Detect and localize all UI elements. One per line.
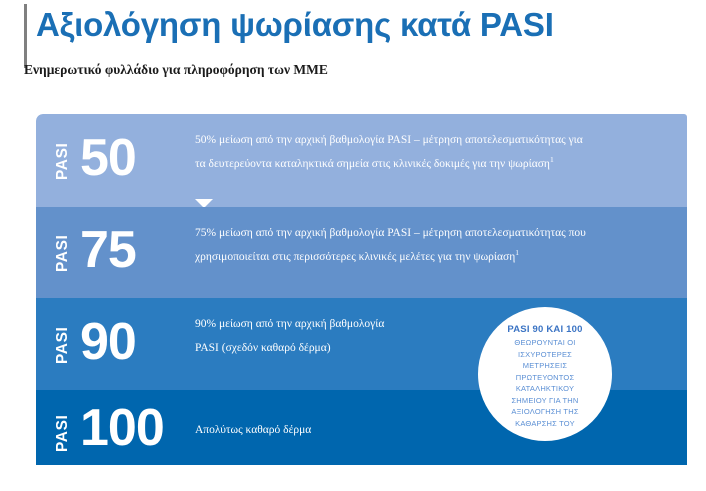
page-subtitle: Ενημερωτικό φυλλάδιο για πληροφόρηση των… xyxy=(24,62,328,78)
pasi-band-score: 90 xyxy=(80,316,136,368)
footnote-marker: 1 xyxy=(515,248,519,257)
pasi-band-description: Απολύτως καθαρό δέρμα xyxy=(195,416,495,440)
callout-circle: PASI 90 ΚΑΙ 100 ΘΕΩΡΟΥΝΤΑΙ ΟΙ ΙΣΧΥΡΟΤΕΡΕ… xyxy=(478,307,612,441)
pasi-band-score: 100 xyxy=(80,402,164,454)
pasi-band-description: 50% μείωση από την αρχική βαθμολογία PAS… xyxy=(195,131,595,174)
pasi-band-label: PASI xyxy=(54,327,72,364)
pasi-band-description-text: 90% μείωση από την αρχική βαθμολογία PAS… xyxy=(195,318,384,354)
pasi-band-75: PASI 75 75% μείωση από την αρχική βαθμολ… xyxy=(36,207,687,298)
pasi-band-description-text: Απολύτως καθαρό δέρμα xyxy=(195,424,311,436)
page-header: Αξιολόγηση ψωρίασης κατά PASI Ενημερωτικ… xyxy=(0,0,706,108)
pasi-band-label: PASI xyxy=(54,415,72,452)
pasi-band-description-text: 75% μείωση από την αρχική βαθμολογία PAS… xyxy=(195,227,586,263)
pasi-band-description: 75% μείωση από την αρχική βαθμολογία PAS… xyxy=(195,224,610,267)
title-accent-bar xyxy=(24,4,27,68)
pasi-band-label: PASI xyxy=(54,143,72,180)
pasi-band-score: 50 xyxy=(80,132,136,184)
pasi-band-50: PASI 50 50% μείωση από την αρχική βαθμολ… xyxy=(36,114,687,207)
pasi-ladder-panel: PASI 50 50% μείωση από την αρχική βαθμολ… xyxy=(36,114,687,465)
callout-body: ΘΕΩΡΟΥΝΤΑΙ ΟΙ ΙΣΧΥΡΟΤΕΡΕΣ ΜΕΤΡΗΣΕΙΣ ΠΡΩΤ… xyxy=(478,337,612,429)
pasi-band-description: 90% μείωση από την αρχική βαθμολογία PAS… xyxy=(195,315,395,358)
pasi-band-label: PASI xyxy=(54,235,72,272)
footnote-marker: 1 xyxy=(550,155,554,164)
pasi-band-score: 75 xyxy=(80,224,136,276)
pasi-band-description-text: 50% μείωση από την αρχική βαθμολογία PAS… xyxy=(195,134,583,170)
callout-heading: PASI 90 ΚΑΙ 100 xyxy=(478,324,612,335)
page-title: Αξιολόγηση ψωρίασης κατά PASI xyxy=(36,6,554,44)
